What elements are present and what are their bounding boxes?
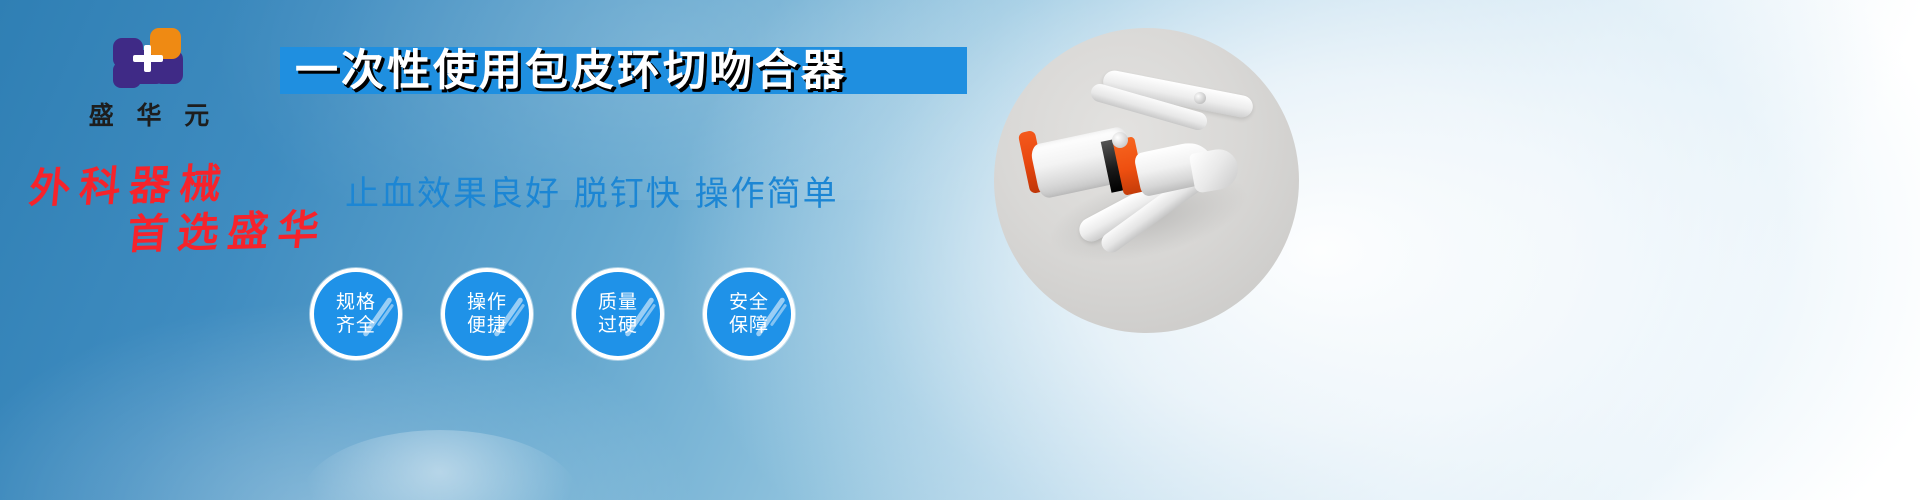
brand-name: 盛 华 元 bbox=[64, 96, 234, 132]
feature-badge-quality[interactable]: 质量 过硬 bbox=[572, 268, 664, 360]
subtitle-text: 止血效果良好 脱钉快 操作简单 bbox=[345, 166, 839, 215]
feature-badge-operation[interactable]: 操作 便捷 bbox=[441, 268, 533, 360]
badge-label-line-1: 操作 bbox=[467, 291, 507, 313]
brand-logo-block[interactable]: 盛 华 元 bbox=[64, 28, 234, 132]
badge-label-line-2: 过硬 bbox=[598, 314, 638, 336]
stapler-top-screw bbox=[1194, 92, 1206, 104]
feature-badge-group: 规格 齐全 操作 便捷 质量 过硬 安全 保障 bbox=[310, 268, 795, 360]
badge-label-line-1: 安全 bbox=[729, 291, 769, 313]
promo-banner: 盛 华 元 一次性使用包皮环切吻合器 外科器械 首选盛华 止血效果良好 脱钉快 … bbox=[0, 0, 1920, 500]
shenghuayuan-logo-icon bbox=[113, 28, 185, 90]
calligraphy-line-2: 首选盛华 bbox=[125, 195, 331, 260]
feature-badge-safety[interactable]: 安全 保障 bbox=[703, 268, 795, 360]
background-arc bbox=[300, 430, 580, 500]
logo-cross-vertical bbox=[144, 45, 151, 72]
badge-label-line-2: 便捷 bbox=[467, 314, 507, 336]
stapler-pivot-screw bbox=[1112, 132, 1128, 148]
product-photo bbox=[994, 28, 1299, 333]
badge-label: 质量 过硬 bbox=[598, 291, 638, 337]
feature-badge-specification[interactable]: 规格 齐全 bbox=[310, 268, 402, 360]
page-title: 一次性使用包皮环切吻合器 bbox=[295, 43, 995, 101]
badge-label: 操作 便捷 bbox=[467, 291, 507, 337]
badge-label-line-2: 齐全 bbox=[336, 314, 376, 336]
badge-label-line-2: 保障 bbox=[729, 314, 769, 336]
badge-label-line-1: 规格 bbox=[336, 291, 376, 313]
calligraphy-slogan: 外科器械 首选盛华 bbox=[24, 152, 354, 262]
badge-label: 规格 齐全 bbox=[336, 291, 376, 337]
badge-label: 安全 保障 bbox=[729, 291, 769, 337]
badge-label-line-1: 质量 bbox=[598, 291, 638, 313]
